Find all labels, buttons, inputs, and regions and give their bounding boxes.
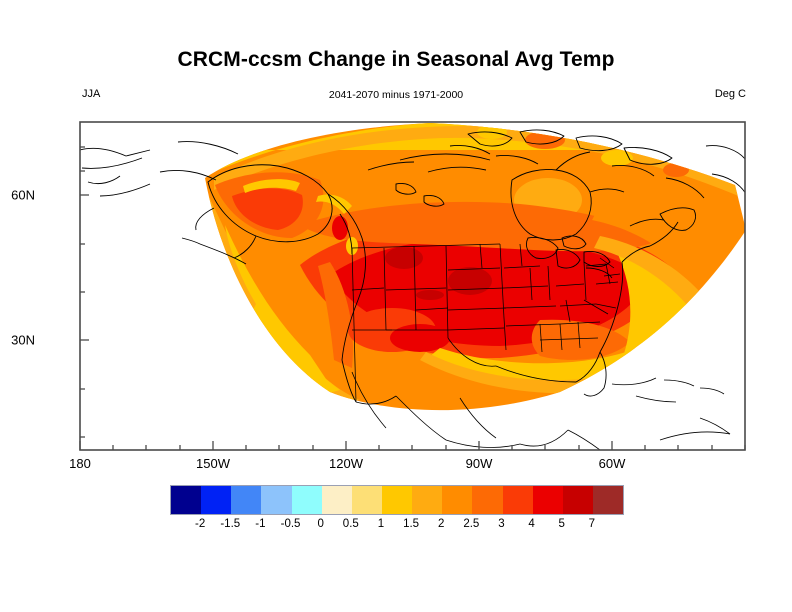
colorbar-swatch (382, 486, 412, 514)
colorbar-tick-label: 7 (589, 518, 595, 530)
colorbar-swatch (412, 486, 442, 514)
colorbar-swatch (292, 486, 322, 514)
colorbar-swatch (322, 486, 352, 514)
colorbar-tick-label: 2.5 (463, 518, 479, 530)
colorbar-swatch (261, 486, 291, 514)
colorbar-tick-label: -1 (255, 518, 265, 530)
colorbar-swatch (593, 486, 623, 514)
figure-canvas: CRCM-ccsm Change in Seasonal Avg Temp JJ… (0, 0, 792, 612)
colorbar-swatch (503, 486, 533, 514)
latitude-tick-label: 30N (11, 333, 46, 348)
colorbar-tick-label: 0 (317, 518, 323, 530)
colorbar-tick-label: -2 (195, 518, 205, 530)
map-field (80, 118, 750, 458)
colorbar-swatch (352, 486, 382, 514)
colorbar-tick-label: 5 (559, 518, 565, 530)
colorbar-swatch (472, 486, 502, 514)
colorbar-swatch (442, 486, 472, 514)
colorbar-ticks: -2-1.5-1-0.500.511.522.53457 (170, 518, 622, 536)
latitude-tick-label: 60N (11, 188, 46, 203)
colorbar-tick-label: 1.5 (403, 518, 419, 530)
longitude-tick-label: 180 (69, 456, 91, 471)
colorbar-swatch (171, 486, 201, 514)
colorbar-swatch (231, 486, 261, 514)
colorbar-swatch (201, 486, 231, 514)
longitude-tick-label: 150W (196, 456, 230, 471)
colorbar-swatch (533, 486, 563, 514)
colorbar-tick-label: -1.5 (220, 518, 240, 530)
colorbar-tick-label: 0.5 (343, 518, 359, 530)
colorbar (170, 485, 624, 515)
longitude-tick-label: 120W (329, 456, 363, 471)
colorbar-tick-label: 3 (498, 518, 504, 530)
longitude-tick-label: 60W (599, 456, 626, 471)
colorbar-tick-label: 2 (438, 518, 444, 530)
colorbar-tick-label: 1 (378, 518, 384, 530)
longitude-tick-label: 90W (466, 456, 493, 471)
colorbar-tick-label: -0.5 (281, 518, 301, 530)
colorbar-tick-label: 4 (528, 518, 534, 530)
colorbar-swatch (563, 486, 593, 514)
